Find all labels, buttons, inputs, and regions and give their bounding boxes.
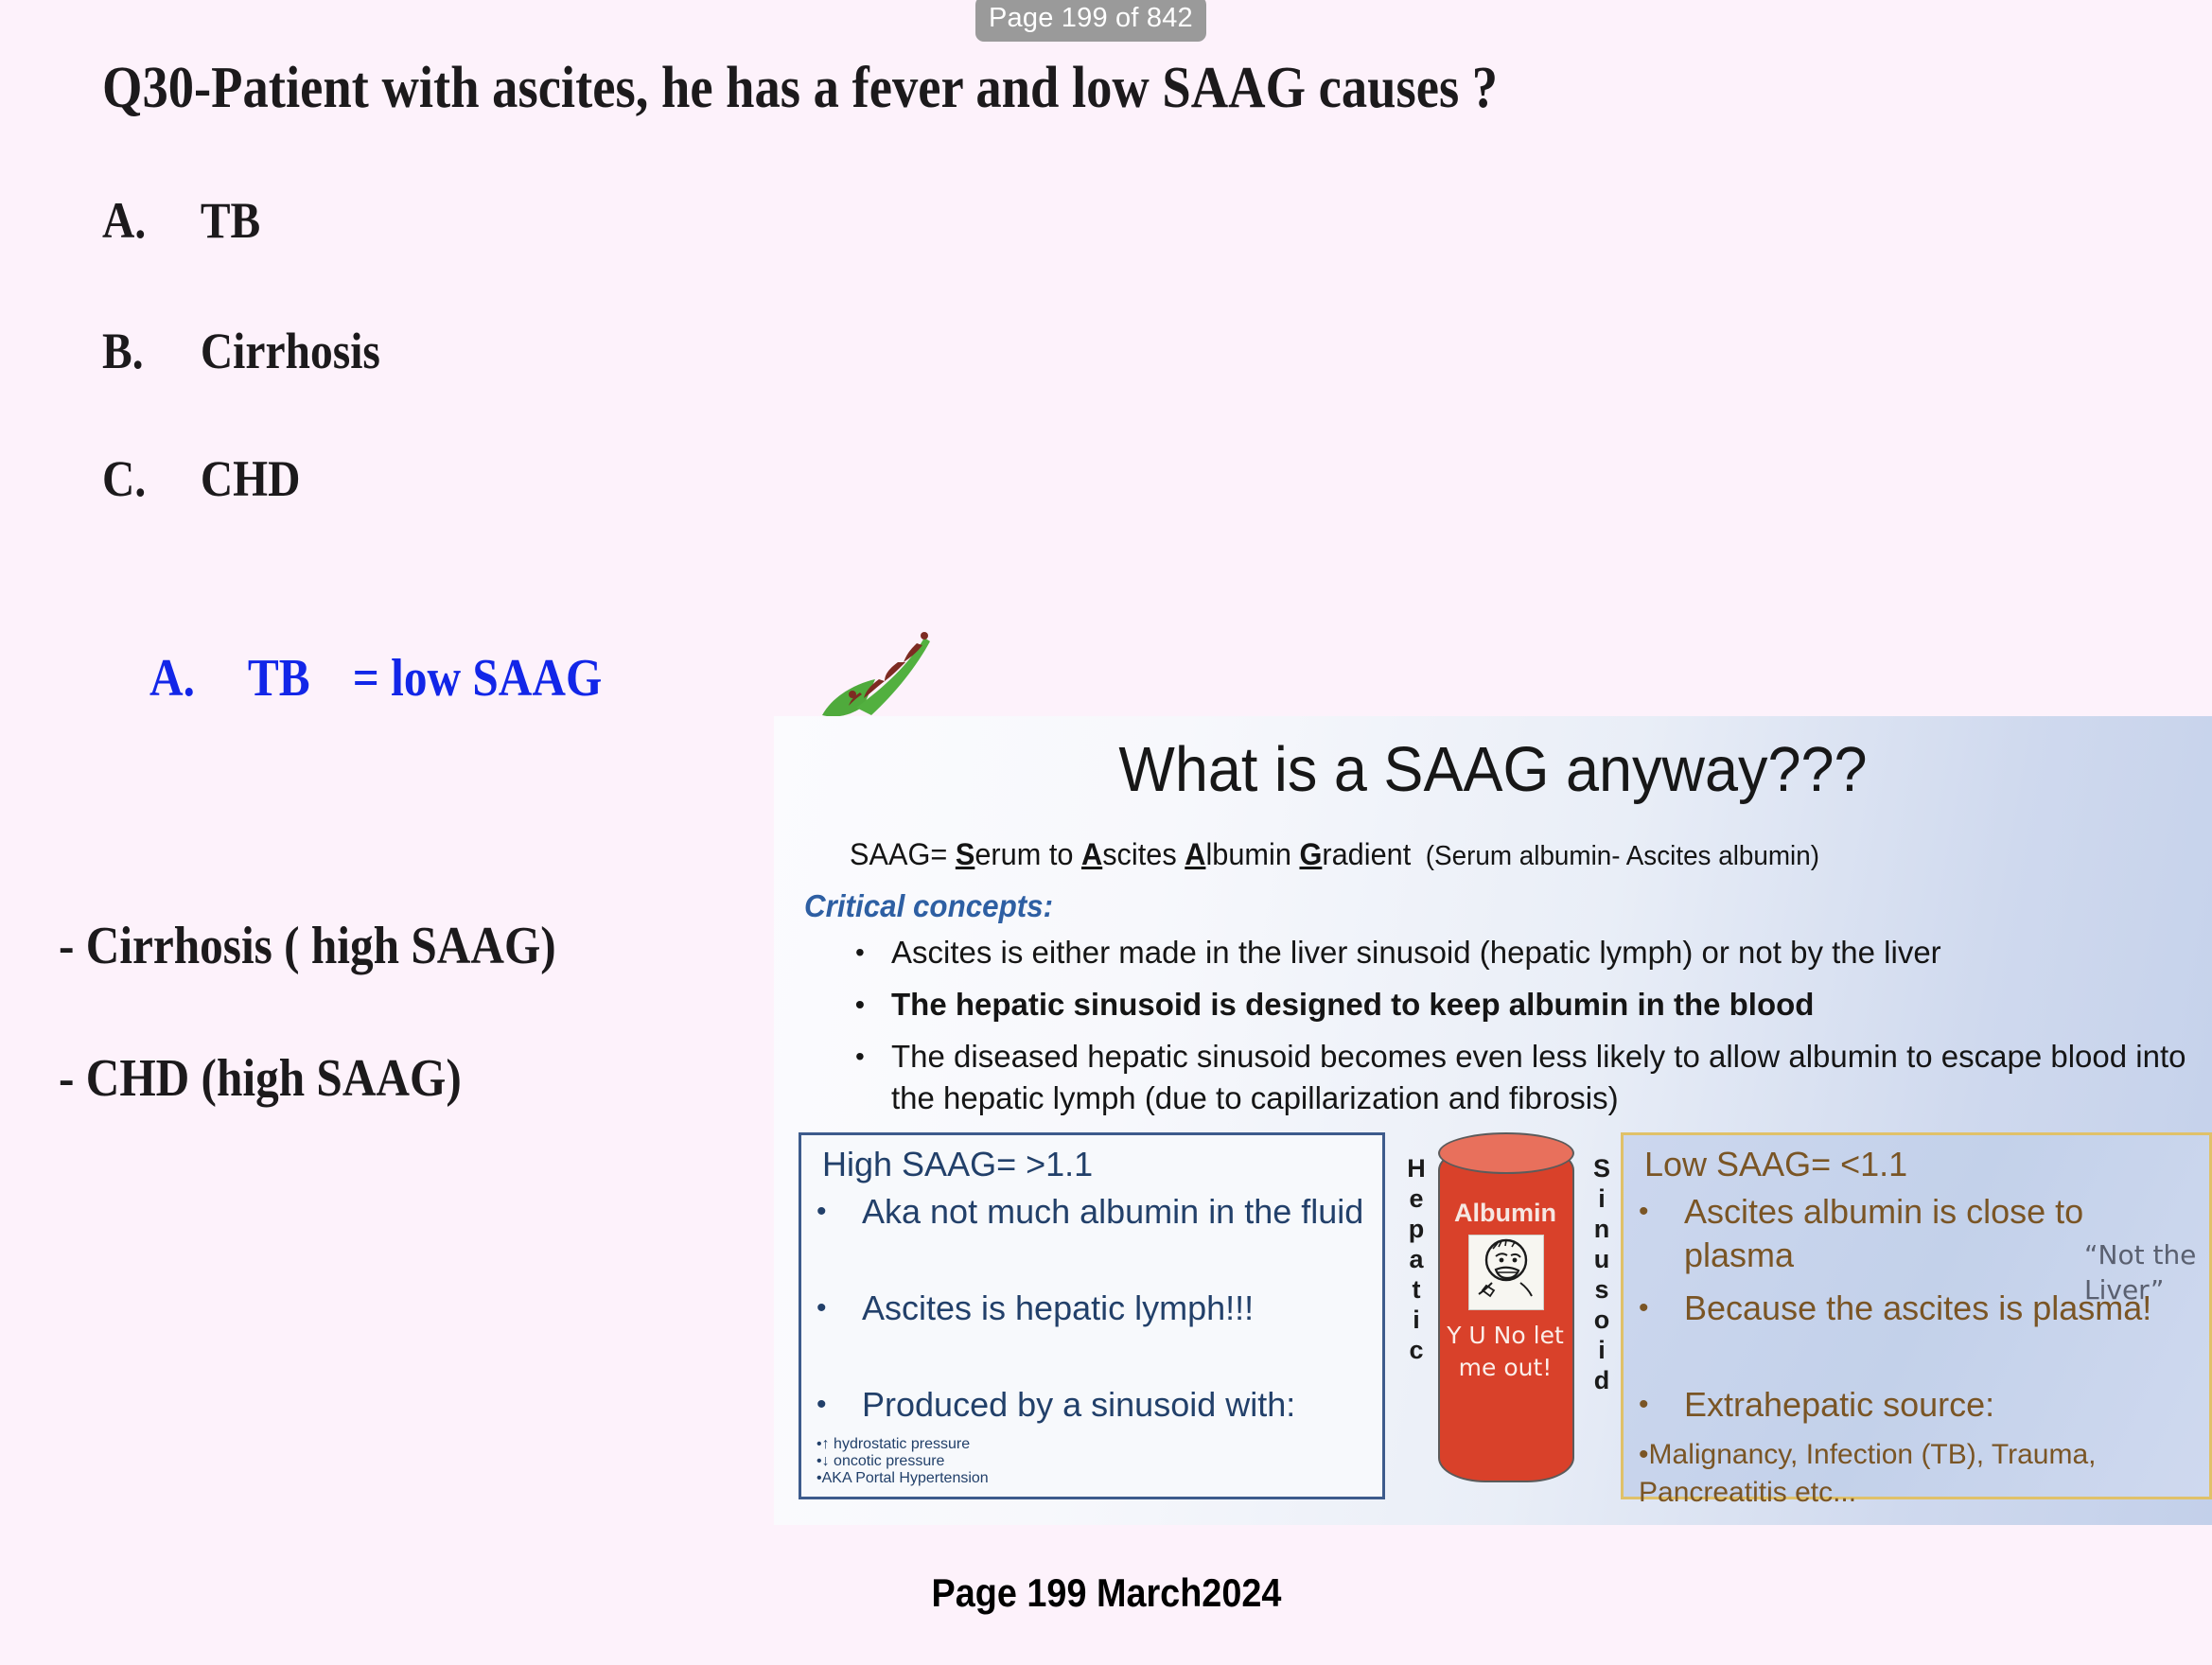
saag-def-a2-rest: lbumin [1205, 837, 1299, 871]
sinusoid-vertical-label: Sinusoid [1589, 1153, 1614, 1395]
slide-title: What is a SAAG anyway??? [817, 733, 2169, 806]
saag-def-s-rest: erum to [974, 837, 1081, 871]
low-saag-bullet-text: Because the ascites is plasma! [1684, 1287, 2151, 1330]
y-u-no-caption: Y U No let me out! [1444, 1320, 1567, 1384]
high-saag-bullet-text: Aka not much albumin in the fluid [862, 1190, 1363, 1234]
high-saag-bullet-text: Produced by a sinusoid with: [862, 1383, 1295, 1427]
critical-concept-item: • The hepatic sinusoid is designed to ke… [855, 984, 2199, 1025]
high-saag-sub-text: ↑ hydrostatic pressure [822, 1436, 971, 1452]
high-saag-sub-text: ↓ oncotic pressure [822, 1453, 945, 1469]
bullet-dot-icon: • [1639, 1190, 1684, 1277]
critical-concepts-heading: Critical concepts: [804, 888, 1053, 924]
note-cirrhosis: - Cirrhosis ( high SAAG) [59, 916, 556, 976]
slide-footer: Page 199 March2024 [0, 1570, 2212, 1616]
bullet-dot-icon: • [1639, 1383, 1684, 1427]
bullet-dot-icon: • [855, 984, 891, 1025]
bullet-dot-icon: • [816, 1190, 862, 1234]
note-chd: - CHD (high SAAG) [59, 1048, 462, 1109]
saag-def-paren: (Serum albumin- Ascites albumin) [1426, 841, 1819, 871]
option-b-label: Cirrhosis [201, 323, 380, 379]
high-saag-bullet-text: Ascites is hepatic lymph!!! [862, 1287, 1254, 1330]
saag-def-g-rest: radient [1322, 837, 1411, 871]
slide-footer-text: Page 199 March2024 [931, 1570, 1281, 1616]
critical-concepts-list: • Ascites is either made in the liver si… [855, 932, 2199, 1130]
bullet-dot-icon: • [1639, 1439, 1649, 1470]
high-saag-box: High SAAG= >1.1 •Aka not much albumin in… [799, 1132, 1385, 1499]
saag-def-a1: A [1081, 837, 1102, 871]
bullet-dot-icon: • [1639, 1287, 1684, 1330]
saag-definition: SAAG= Serum to Ascites Albumin Gradient … [850, 837, 1819, 872]
saag-def-s: S [956, 837, 974, 871]
high-saag-sub-bullets: •↑ hydrostatic pressure •↓ oncotic press… [816, 1436, 1374, 1487]
critical-concept-item: • The diseased hepatic sinusoid becomes … [855, 1036, 2199, 1119]
critical-concept-item: • Ascites is either made in the liver si… [855, 932, 2199, 973]
low-saag-sub-bullets: •Malignancy, Infection (TB), Trauma, Pan… [1639, 1436, 2189, 1512]
low-saag-box: Low SAAG= <1.1 •Ascites albumin is close… [1621, 1132, 2212, 1499]
critical-concept-text: Ascites is either made in the liver sinu… [891, 932, 1941, 973]
low-saag-heading: Low SAAG= <1.1 [1644, 1145, 1907, 1184]
hepatic-sinusoid-diagram: Hepatic Sinusoid Albumin Y U No let me o… [1398, 1125, 1618, 1503]
page-indicator-badge: Page 199 of 842 [975, 0, 1206, 42]
saag-def-prefix: SAAG= [850, 837, 956, 871]
low-saag-bullet: •Extrahepatic source: [1639, 1383, 2201, 1427]
bullet-dot-icon: • [816, 1287, 862, 1330]
arabic-ahsant-leaf-sticker [818, 624, 941, 728]
low-saag-sub-text: Malignancy, Infection (TB), Trauma, Panc… [1639, 1439, 2096, 1508]
option-a-label: TB [201, 192, 260, 249]
correct-answer: A.TB= low SAAG [149, 648, 602, 709]
high-saag-heading: High SAAG= >1.1 [822, 1145, 1093, 1184]
option-a[interactable]: A.TB [102, 191, 260, 250]
bullet-dot-icon: • [816, 1383, 862, 1427]
critical-concept-text: The diseased hepatic sinusoid becomes ev… [891, 1036, 2199, 1119]
question-title: Q30-Patient with ascites, he has a fever… [102, 55, 1498, 122]
saag-def-a2: A [1185, 837, 1205, 871]
option-b[interactable]: B.Cirrhosis [102, 322, 380, 380]
sinusoid-cylinder [1438, 1146, 1574, 1482]
bullet-dot-icon: • [855, 932, 891, 973]
critical-concept-text: The hepatic sinusoid is designed to keep… [891, 984, 1814, 1025]
option-c-letter: C. [102, 449, 201, 508]
answer-letter: A. [149, 648, 248, 709]
high-saag-bullet: •Produced by a sinusoid with: [816, 1383, 1374, 1427]
answer-choice: TB [248, 648, 353, 709]
bullet-dot-icon: • [855, 1036, 891, 1119]
not-the-liver-annotation: “Not the Liver” [2084, 1237, 2198, 1307]
saag-def-a1-rest: scites [1102, 837, 1185, 871]
low-saag-bullet-text: Extrahepatic source: [1684, 1383, 1994, 1427]
high-saag-sub-text: AKA Portal Hypertension [822, 1470, 989, 1486]
option-b-letter: B. [102, 322, 201, 380]
sinusoid-cylinder-top [1438, 1132, 1574, 1174]
option-c-label: CHD [201, 450, 301, 507]
hepatic-vertical-label: Hepatic [1404, 1153, 1429, 1365]
saag-slide-image: What is a SAAG anyway??? SAAG= Serum to … [774, 716, 2212, 1525]
option-a-letter: A. [102, 191, 201, 250]
albumin-label: Albumin [1448, 1199, 1563, 1228]
high-saag-bullet: •Aka not much albumin in the fluid [816, 1190, 1374, 1234]
high-saag-bullet: •Ascites is hepatic lymph!!! [816, 1287, 1374, 1330]
y-u-no-rage-face-icon [1468, 1235, 1544, 1310]
saag-def-g: G [1299, 837, 1322, 871]
option-c[interactable]: C.CHD [102, 449, 300, 508]
answer-explanation: = low SAAG [353, 649, 603, 708]
